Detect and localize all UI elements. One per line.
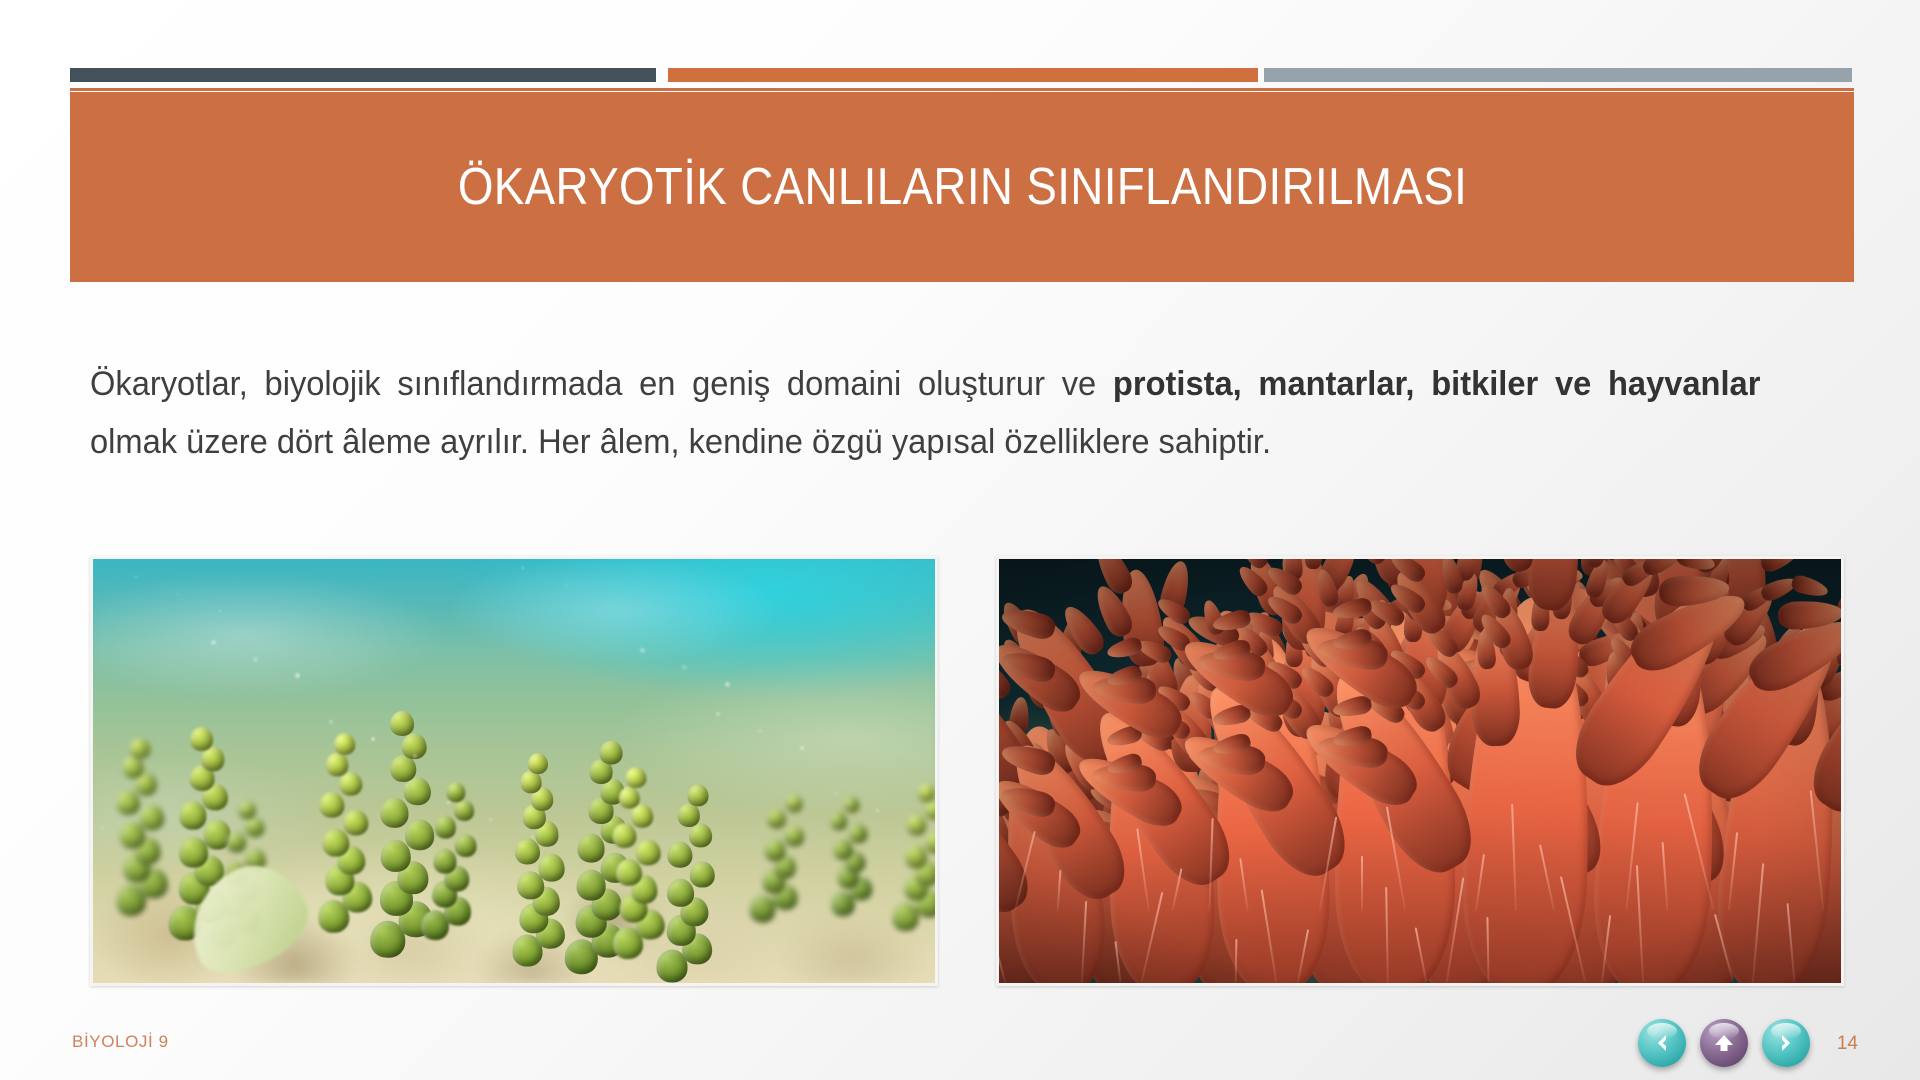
algae-bead — [612, 822, 637, 849]
red-algae-photo — [996, 556, 1844, 986]
algae-stalk — [507, 751, 571, 967]
water-particle — [219, 610, 221, 612]
algae-bead — [190, 726, 213, 750]
water-particle — [682, 665, 687, 670]
algae-bead — [244, 816, 265, 838]
home-slide-button[interactable] — [1700, 1019, 1748, 1067]
water-particle — [371, 737, 375, 741]
page-number: 14 — [1837, 1033, 1858, 1055]
red-algae-cluster — [999, 559, 1841, 983]
water-particle — [725, 682, 730, 687]
water-particle — [329, 720, 333, 724]
algae-bead — [763, 838, 786, 863]
algae-bead — [905, 814, 927, 837]
algae-bead — [319, 791, 345, 818]
green-algae-cluster — [93, 559, 935, 983]
body-segment-1: Ökaryotlar, biyolojik sınıflandırmada en… — [90, 365, 1113, 403]
right-arrow-icon — [1775, 1032, 1797, 1054]
slide-navigation — [1638, 1019, 1810, 1067]
algae-stalk — [106, 736, 175, 918]
algae-bead — [667, 841, 692, 868]
algae-bead — [380, 797, 409, 827]
red-algae-frond — [1331, 596, 1373, 622]
algae-bead — [599, 739, 623, 764]
algae-stalk — [657, 782, 723, 983]
water-particle — [607, 601, 609, 603]
algae-bead — [829, 811, 848, 831]
algae-bead — [225, 831, 247, 854]
accent-bar-orange — [668, 68, 1258, 82]
previous-slide-button[interactable] — [1638, 1019, 1686, 1067]
water-particle — [93, 559, 95, 561]
water-particle — [876, 809, 879, 812]
water-particle — [489, 818, 492, 821]
water-particle — [716, 712, 720, 716]
water-particle — [834, 792, 837, 795]
green-algae-photo-canvas — [93, 559, 935, 983]
water-particle — [447, 801, 450, 804]
algae-bead — [783, 824, 805, 847]
algae-bead — [454, 833, 478, 858]
accent-bar-group — [0, 68, 1920, 82]
body-segment-2: olmak üzere dört âleme ayrılır. Her âlem… — [90, 423, 1271, 461]
red-algae-frond — [1437, 559, 1464, 595]
water-particle — [135, 576, 137, 578]
title-top-rule — [70, 88, 1854, 91]
water-particle — [640, 648, 645, 653]
red-algae-photo-canvas — [999, 559, 1841, 983]
algae-stalk — [822, 793, 880, 917]
left-arrow-icon — [1651, 1032, 1673, 1054]
red-algae-frond — [1674, 559, 1716, 574]
next-slide-button[interactable] — [1762, 1019, 1810, 1067]
water-particle — [177, 593, 179, 595]
course-label: BİYOLOJİ 9 — [72, 1032, 169, 1052]
algae-stalk — [421, 779, 485, 942]
algae-bead — [848, 823, 868, 844]
water-particle — [522, 567, 524, 569]
body-text-block: Ökaryotlar, biyolojik sınıflandırmada en… — [90, 355, 1830, 472]
water-particle — [295, 673, 300, 678]
algae-bead — [139, 804, 165, 832]
algae-bead — [116, 789, 141, 816]
algae-stalk — [750, 790, 813, 926]
algae-bead — [924, 799, 935, 821]
algae-bead — [179, 800, 207, 829]
algae-bead — [343, 808, 370, 836]
algae-bead — [688, 784, 710, 807]
page-title: ÖKARYOTİK CANLILARIN SINIFLANDIRILMASI — [457, 157, 1466, 217]
water-particle — [758, 729, 762, 733]
body-bold-phrase: protista, mantarlar, bitkiler ve hayvanl… — [1113, 365, 1760, 403]
red-algae-filament — [1234, 939, 1237, 983]
water-particle — [101, 826, 104, 829]
water-particle — [211, 640, 216, 645]
image-row — [0, 556, 1920, 988]
algae-bead — [527, 753, 548, 775]
algae-stalk — [893, 781, 935, 934]
presentation-slide: ÖKARYOTİK CANLILARIN SINIFLANDIRILMASI Ö… — [0, 0, 1920, 1080]
water-particle — [413, 754, 417, 758]
water-particle — [253, 657, 258, 662]
algae-bead — [766, 807, 787, 829]
algae-bead — [129, 737, 151, 760]
water-particle — [405, 784, 408, 787]
water-particle — [800, 746, 804, 750]
algae-bead — [784, 793, 803, 813]
title-band: ÖKARYOTİK CANLILARIN SINIFLANDIRILMASI — [70, 92, 1854, 282]
green-algae-photo — [90, 556, 938, 986]
water-particle — [565, 584, 567, 586]
algae-bead — [689, 861, 715, 889]
red-algae-filament — [1361, 856, 1363, 911]
accent-bar-dark — [70, 68, 656, 82]
algae-bead — [917, 782, 935, 803]
water-particle — [531, 835, 534, 838]
algae-bead — [625, 766, 647, 789]
algae-bead — [667, 878, 694, 907]
accent-bar-gray — [1264, 68, 1852, 82]
algae-bead — [843, 795, 861, 814]
algae-bead — [390, 710, 414, 735]
body-paragraph: Ökaryotlar, biyolojik sınıflandırmada en… — [90, 355, 1760, 472]
algae-bead — [538, 854, 565, 882]
algae-stalk — [310, 731, 379, 934]
up-arrow-icon — [1712, 1031, 1736, 1055]
algae-bead — [435, 815, 458, 839]
algae-bead — [334, 732, 356, 755]
algae-bead — [635, 838, 661, 866]
